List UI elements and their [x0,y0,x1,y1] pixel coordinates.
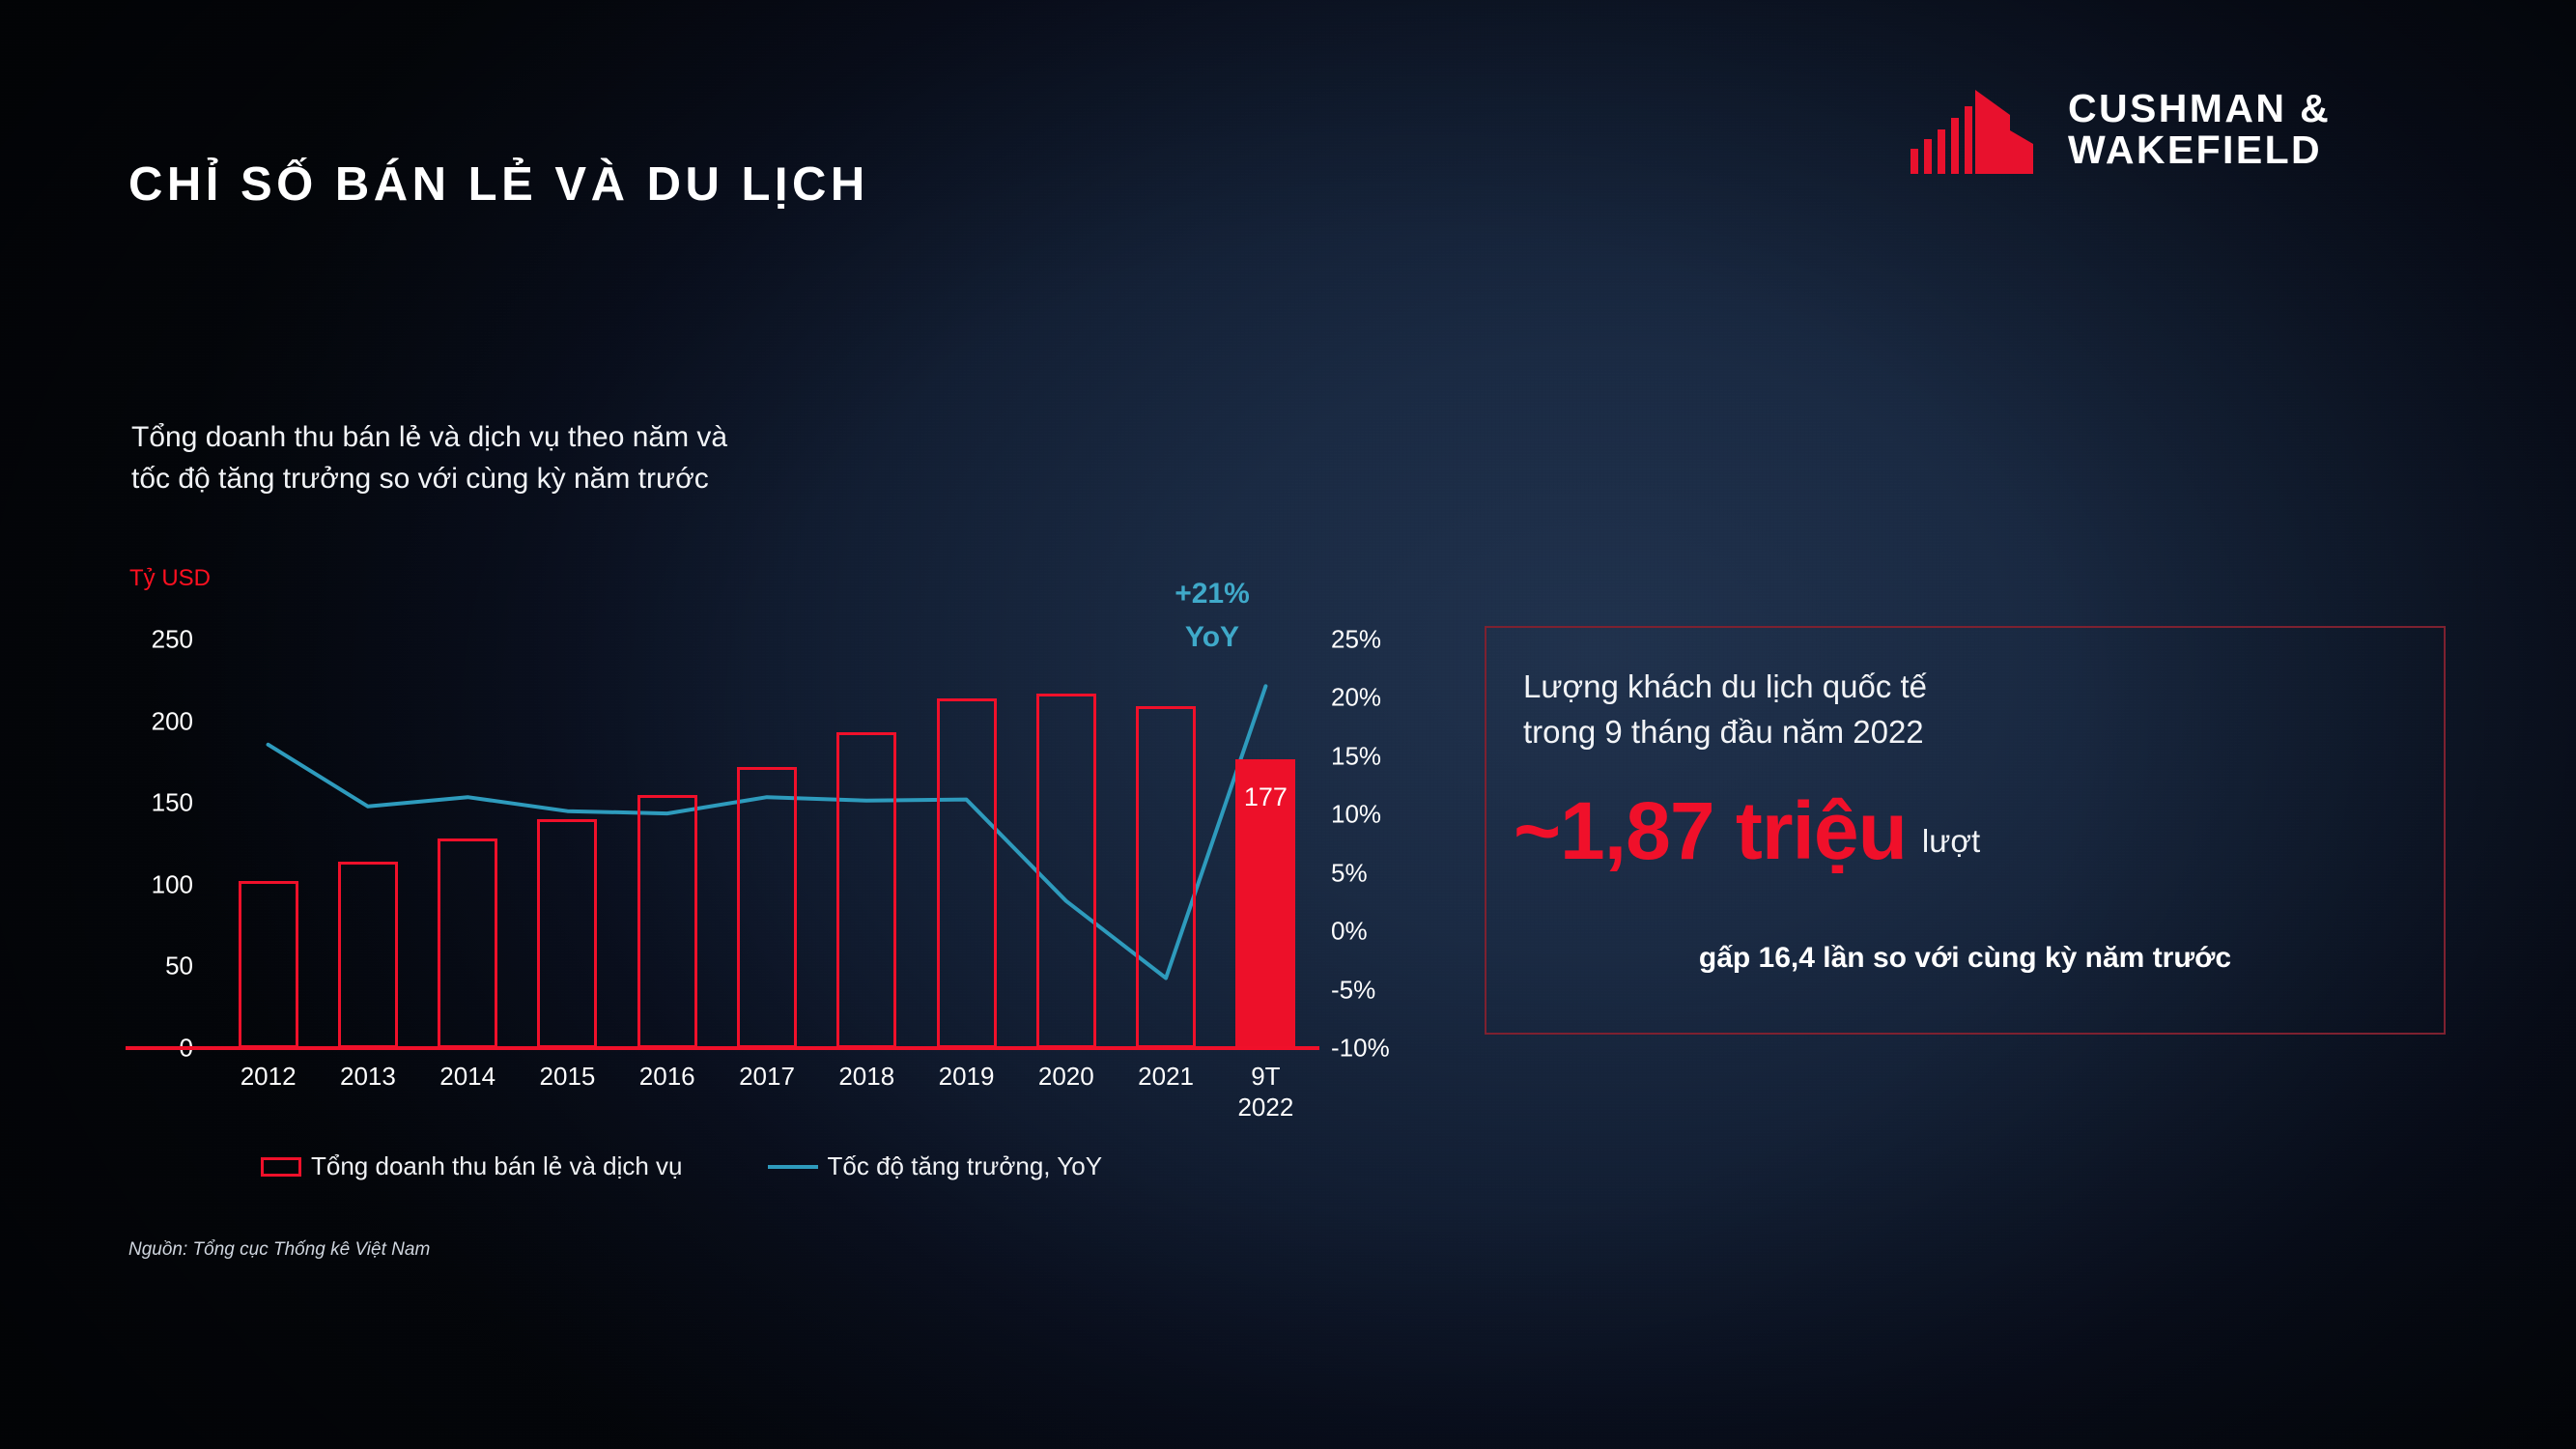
y-axis-tick-right: 15% [1331,741,1381,771]
chart-y-axis-right: -10%-5%0%5%10%15%20%25% [1331,618,1466,1063]
chart-legend: Tổng doanh thu bán lẻ và dịch vụTốc độ t… [261,1151,1102,1181]
x-axis-tick: 2013 [340,1061,396,1092]
panel-heading: Lượng khách du lịch quốc tế trong 9 thán… [1523,665,1927,755]
y-axis-tick-right: 0% [1331,917,1368,947]
chart-baseline [126,1046,1319,1050]
x-axis-tick: 2020 [1038,1061,1094,1092]
cushman-wakefield-building-icon [1908,85,2043,174]
bar [1136,706,1196,1048]
bar [438,838,497,1048]
x-axis-tick: 2017 [739,1061,795,1092]
chart-subtitle: Tổng doanh thu bán lẻ và dịch vụ theo nă… [131,417,727,499]
chart-annotation-yoy: +21% YoY [1175,572,1250,659]
panel-footnote: gấp 16,4 lần so với cùng kỳ năm trước [1486,942,2444,975]
legend-item: Tổng doanh thu bán lẻ và dịch vụ [261,1151,683,1181]
tourism-highlight-panel: Lượng khách du lịch quốc tế trong 9 thán… [1485,626,2446,1035]
brand-logo-text: CUSHMAN & WAKEFIELD [2068,88,2331,172]
page-title: CHỈ SỐ BÁN LẺ VÀ DU LỊCH [128,157,869,212]
bar [637,795,697,1048]
chart-unit-label: Tỷ USD [129,565,211,592]
panel-heading-line2: trong 9 tháng đầu năm 2022 [1523,710,1927,755]
x-axis-tick: 2019 [939,1061,995,1092]
bar [937,698,997,1048]
brand-logo-line2: WAKEFIELD [2068,129,2331,171]
y-axis-tick-left: 250 [0,625,193,655]
y-axis-tick-right: 20% [1331,683,1381,713]
legend-label: Tốc độ tăng trưởng, YoY [828,1151,1103,1181]
x-axis-tick: 2016 [639,1061,695,1092]
bar [737,767,797,1048]
y-axis-tick-left: 100 [0,869,193,899]
chart-annotation-value: +21% [1175,572,1250,615]
legend-item: Tốc độ tăng trưởng, YoY [768,1151,1103,1181]
brand-logo: CUSHMAN & WAKEFIELD [1908,85,2331,174]
x-axis-tick: 2015 [540,1061,596,1092]
x-axis-tick: 2014 [439,1061,495,1092]
panel-big-suffix: lượt [1922,823,1980,871]
bar [1036,694,1096,1048]
chart-annotation-label: YoY [1175,615,1250,659]
panel-big-stat: ~1,87 triệu lượt [1514,790,1980,871]
y-axis-tick-right: -5% [1331,975,1375,1005]
x-axis-tick: 2021 [1138,1061,1194,1092]
y-axis-tick-right: 10% [1331,800,1381,830]
y-axis-tick-left: 150 [0,788,193,818]
brand-logo-line1: CUSHMAN & [2068,88,2331,129]
chart-x-axis: 2012201320142015201620172018201920202021… [218,1061,1316,1148]
bar [239,881,298,1048]
x-axis-tick: 2012 [241,1061,297,1092]
bar [537,819,597,1048]
chart-subtitle-line1: Tổng doanh thu bán lẻ và dịch vụ theo nă… [131,417,727,459]
chart-plot-area: 177 [218,639,1316,1048]
y-axis-tick-right: 25% [1331,625,1381,655]
legend-box-swatch-icon [261,1157,301,1177]
chart-subtitle-line2: tốc độ tăng trưởng so với cùng kỳ năm tr… [131,459,727,500]
y-axis-tick-right: 5% [1331,858,1368,888]
chart-y-axis-left: 050100150200250 [0,618,193,1063]
x-axis-tick: 2018 [838,1061,894,1092]
bar [836,732,896,1048]
y-axis-tick-right: -10% [1331,1034,1390,1064]
chart-source-note: Nguồn: Tổng cục Thống kê Việt Nam [128,1239,430,1261]
y-axis-tick-left: 50 [0,952,193,981]
legend-label: Tổng doanh thu bán lẻ và dịch vụ [311,1151,683,1181]
panel-big-number: ~1,87 triệu [1514,790,1907,871]
bar [338,862,398,1048]
panel-heading-line1: Lượng khách du lịch quốc tế [1523,665,1927,710]
y-axis-tick-left: 200 [0,706,193,736]
x-axis-tick: 9T 2022 [1237,1061,1293,1122]
bar-value-label: 177 [1235,782,1295,812]
legend-line-swatch-icon [768,1165,818,1169]
